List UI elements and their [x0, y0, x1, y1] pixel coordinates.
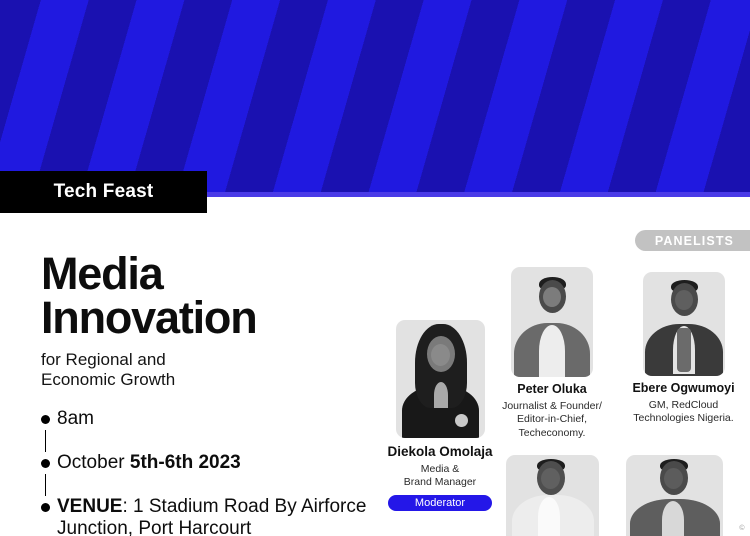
headline-line-1: Media [41, 252, 391, 296]
bullet-connector-line [45, 474, 47, 496]
panelist-photo [506, 455, 599, 536]
moderator-badge-label: Moderator [415, 497, 465, 509]
panelists-badge-label: PANELISTS [655, 234, 734, 248]
detail-date-text: October 5th-6th 2023 [57, 452, 241, 474]
panelist-card-ebere-ogwumoyi: Ebere Ogwumoyi GM, RedCloud Technologies… [617, 272, 750, 426]
panelists-badge: PANELISTS [635, 230, 750, 251]
tech-feast-label: Tech Feast [54, 181, 154, 203]
detail-venue-text: VENUE: 1 Stadium Road By Airforce Juncti… [57, 496, 401, 536]
panelist-name: Peter Oluka [488, 382, 616, 398]
panelist-name: Ebere Ogwumoyi [617, 381, 750, 397]
tech-feast-tag: Tech Feast [0, 171, 207, 213]
panelist-role-line-1: Journalist & Founder/ [488, 400, 616, 413]
panelist-photo [626, 455, 723, 536]
subtitle-line-1: for Regional and [41, 350, 391, 370]
detail-time-text: 8am [57, 408, 94, 430]
panelist-role-line-1: GM, RedCloud [617, 399, 750, 412]
detail-item-venue: VENUE: 1 Stadium Road By Airforce Juncti… [41, 496, 401, 536]
panelist-role-line-2: Editor-in-Chief, [488, 413, 616, 426]
panelist-photo [643, 272, 725, 376]
moderator-badge: Moderator [388, 495, 492, 511]
page-title: Media Innovation [41, 252, 391, 339]
panelist-role-line-1: Media & [379, 463, 501, 476]
event-flyer: Tech Feast Media Innovation for Regional… [0, 0, 750, 536]
event-details-list: 8am October 5th-6th 2023 VENUE: 1 Stadiu… [41, 408, 401, 536]
subtitle: for Regional and Economic Growth [41, 350, 391, 389]
bullet-dot-icon [41, 415, 50, 424]
detail-item-time: 8am [41, 408, 401, 430]
detail-date-bold: 5th-6th 2023 [130, 452, 241, 473]
bullet-dot-icon [41, 503, 50, 512]
top-banner [0, 0, 750, 197]
detail-item-date: October 5th-6th 2023 [41, 452, 401, 474]
headline-block: Media Innovation for Regional and Econom… [41, 252, 391, 390]
panelist-role-line-3: Techeconomy. [488, 427, 616, 440]
bullet-connector-line [45, 430, 47, 452]
panelist-card-diekola-omolaja: Diekola Omolaja Media & Brand Manager Mo… [379, 320, 501, 511]
detail-date-prefix: October [57, 452, 130, 473]
panelist-photo [396, 320, 485, 438]
panelist-photo [511, 267, 593, 377]
bullet-dot-icon [41, 459, 50, 468]
panelist-role-line-2: Brand Manager [379, 476, 501, 489]
subtitle-line-2: Economic Growth [41, 370, 391, 390]
panelist-card-peter-oluka: Peter Oluka Journalist & Founder/ Editor… [488, 267, 616, 440]
corner-watermark: © [739, 525, 745, 532]
panelist-card-row2-left [503, 455, 601, 536]
panelist-role-line-2: Technologies Nigeria. [617, 412, 750, 425]
panelist-name: Diekola Omolaja [379, 444, 501, 461]
headline-line-2: Innovation [41, 296, 391, 340]
detail-venue-label: VENUE [57, 496, 122, 517]
panelist-card-row2-right [622, 455, 726, 536]
